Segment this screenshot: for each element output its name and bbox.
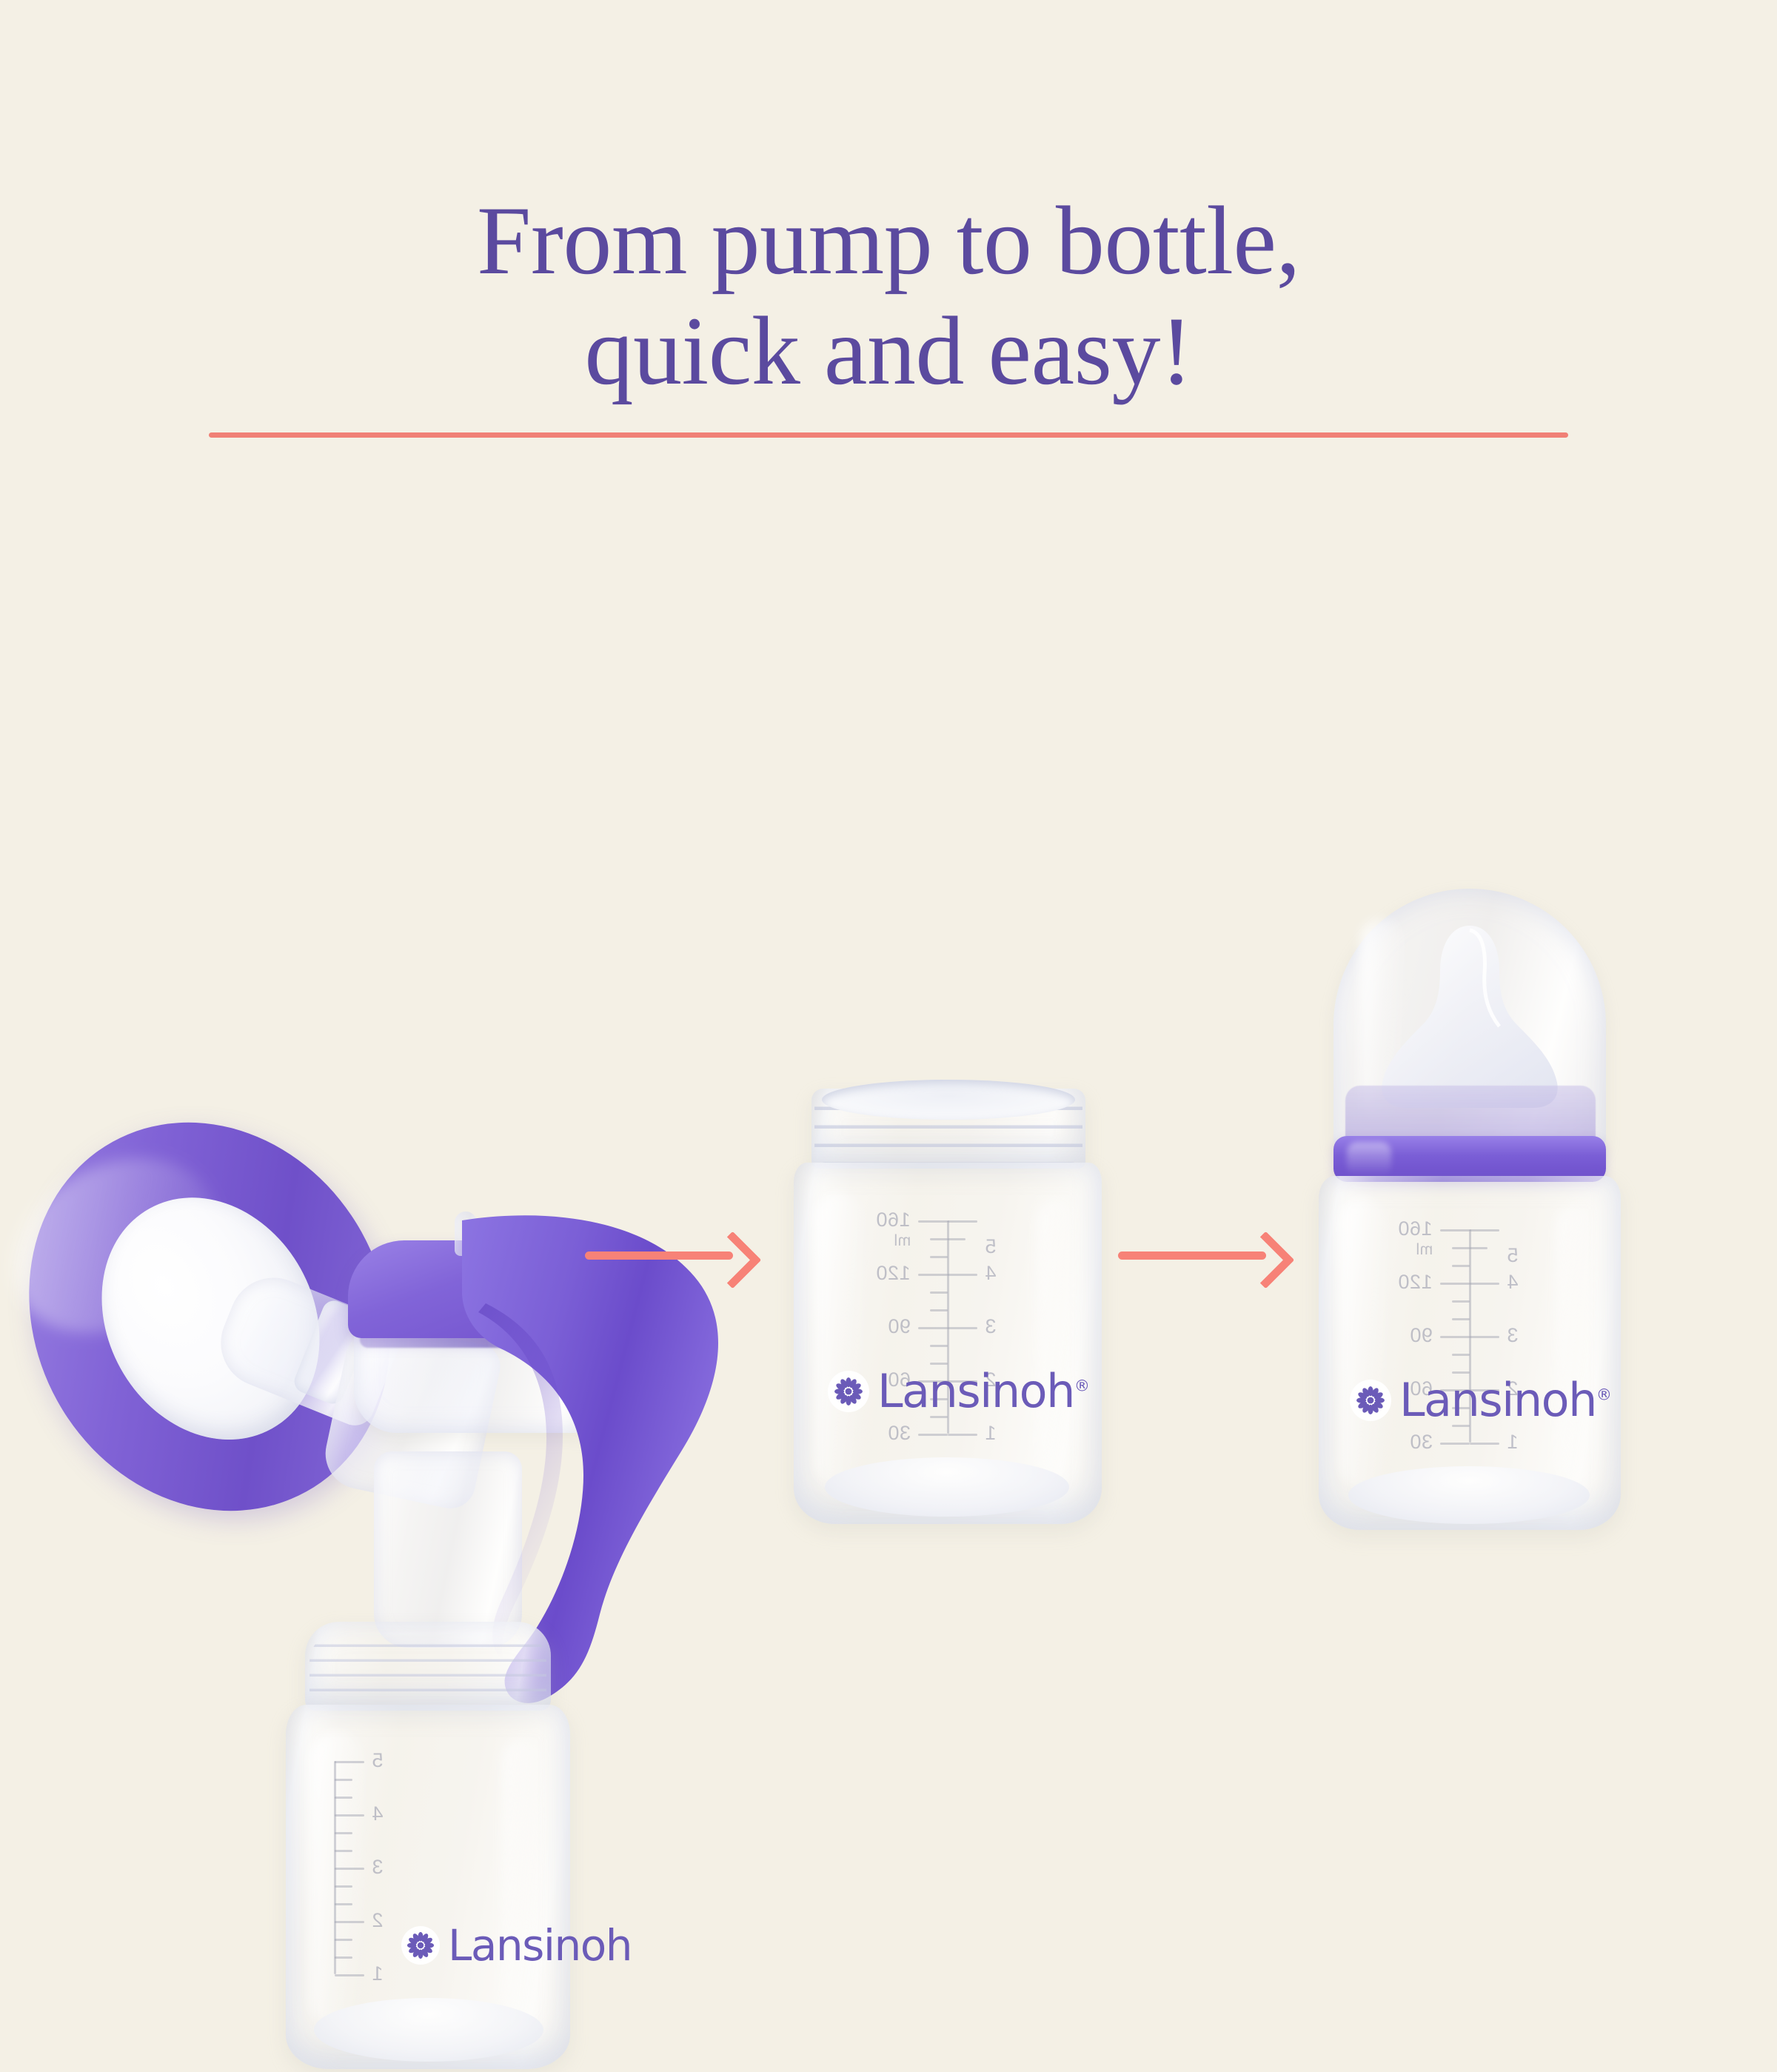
scale-tick-major bbox=[918, 1434, 948, 1436]
scale-tick-minor bbox=[930, 1238, 948, 1240]
scale-tick-minor bbox=[930, 1309, 948, 1311]
bottle-base bbox=[314, 1998, 543, 2062]
brand-logo: Lansinoh® bbox=[828, 1368, 1090, 1414]
scale-tick-minor bbox=[1470, 1247, 1487, 1249]
scale-label-ml: 160 bbox=[1398, 1217, 1433, 1240]
scale-label-oz: 1 bbox=[985, 1422, 997, 1445]
scale-tick-major bbox=[1470, 1443, 1499, 1445]
scale-tick-minor bbox=[335, 1903, 352, 1905]
scale-tick-major bbox=[918, 1220, 948, 1223]
product-manual-breast-pump: 5 4 3 2 1 bbox=[0, 548, 652, 1533]
brand-wordmark: Lansinoh bbox=[448, 1924, 632, 1967]
lansinoh-daisy-icon bbox=[1350, 1380, 1391, 1421]
scale-label-ml: 160 bbox=[876, 1209, 911, 1231]
arrow-head-icon bbox=[704, 1231, 762, 1289]
scale-tick-major bbox=[335, 1761, 364, 1763]
collar-ring-highlight bbox=[1347, 1142, 1391, 1176]
scale-label-oz: 4 bbox=[985, 1262, 997, 1285]
scale-label-oz: 4 bbox=[372, 1802, 384, 1825]
measurement-scale: 5 4 3 2 1 bbox=[333, 1761, 336, 1974]
scale-tick-minor bbox=[930, 1291, 948, 1294]
daisy-flower-icon bbox=[833, 1376, 864, 1407]
scale-label-oz: 3 bbox=[1507, 1324, 1519, 1347]
product-feeding-bottle: 160 ml 120 90 60 30 5 4 3 2 1 bbox=[1314, 889, 1625, 1533]
scale-tick-minor bbox=[930, 1256, 948, 1258]
brand-name-text: Lansinoh bbox=[877, 1364, 1074, 1418]
brand-wordmark: Lansinoh® bbox=[1399, 1377, 1612, 1423]
page-title: From pump to bottle, quick and easy! bbox=[0, 185, 1777, 406]
arrow-head-icon bbox=[1237, 1231, 1295, 1289]
scale-tick-major bbox=[335, 1921, 364, 1923]
scale-tick-major bbox=[335, 1814, 364, 1817]
scale-tick-major bbox=[1470, 1229, 1499, 1231]
scale-label-oz: 2 bbox=[372, 1909, 384, 1932]
brand-wordmark: Lansinoh® bbox=[877, 1368, 1090, 1414]
scale-label-oz: 5 bbox=[985, 1235, 997, 1258]
scale-tick-major bbox=[918, 1274, 948, 1276]
scale-tick-minor bbox=[1452, 1300, 1470, 1303]
scale-label-oz: 3 bbox=[372, 1856, 384, 1879]
scale-tick-major bbox=[1440, 1336, 1470, 1338]
scale-tick-major bbox=[335, 1868, 364, 1870]
scale-tick-minor bbox=[948, 1238, 966, 1240]
arrow-pump-to-container bbox=[585, 1222, 755, 1289]
scale-label-oz: 5 bbox=[372, 1749, 384, 1772]
brand-logo: Lansinoh bbox=[401, 1924, 632, 1967]
scale-tick-minor bbox=[335, 1956, 352, 1959]
scale-tick-major bbox=[1440, 1283, 1470, 1285]
bottle-base bbox=[1348, 1466, 1590, 1524]
scale-tick-major bbox=[335, 1974, 364, 1976]
container-base bbox=[825, 1457, 1069, 1517]
scale-tick-major bbox=[1440, 1443, 1470, 1445]
product-storage-container: 160 ml 120 90 60 30 5 4 3 2 1 bbox=[792, 1089, 1103, 1533]
scale-tick-minor bbox=[1452, 1318, 1470, 1320]
scale-label-oz: 5 bbox=[1507, 1244, 1519, 1267]
arrow-container-to-bottle bbox=[1118, 1222, 1288, 1289]
lansinoh-daisy-icon bbox=[401, 1926, 440, 1965]
lansinoh-daisy-icon bbox=[828, 1371, 869, 1412]
scale-tick-minor bbox=[335, 1797, 352, 1799]
scale-tick-minor bbox=[335, 1850, 352, 1852]
scale-tick-minor bbox=[1452, 1247, 1470, 1249]
scale-label-ml: 120 bbox=[876, 1262, 911, 1285]
brand-logo: Lansinoh® bbox=[1350, 1377, 1612, 1423]
scale-tick-minor bbox=[335, 1885, 352, 1888]
scale-tick-minor bbox=[930, 1345, 948, 1347]
scale-label-ml: 30 bbox=[888, 1422, 911, 1445]
registered-trademark-symbol: ® bbox=[1596, 1385, 1612, 1403]
infographic-canvas: From pump to bottle, quick and easy! bbox=[0, 0, 1777, 1777]
bottle-thread-lines bbox=[309, 1632, 546, 1703]
scale-tick-major bbox=[948, 1327, 977, 1329]
scale-tick-major bbox=[948, 1220, 977, 1223]
scale-label-ml-unit: ml bbox=[1416, 1241, 1433, 1259]
daisy-flower-icon bbox=[1355, 1385, 1386, 1416]
scale-label-ml: 120 bbox=[1398, 1271, 1433, 1294]
scale-label-ml: 90 bbox=[1410, 1324, 1433, 1347]
scale-label-oz: 1 bbox=[1507, 1431, 1519, 1454]
scale-tick-minor bbox=[1452, 1354, 1470, 1356]
scale-tick-minor bbox=[335, 1939, 352, 1941]
scale-label-oz: 1 bbox=[372, 1962, 384, 1985]
scale-tick-minor bbox=[1452, 1265, 1470, 1267]
brand-name-text: Lansinoh bbox=[1399, 1373, 1596, 1427]
title-divider-rule bbox=[209, 432, 1568, 438]
registered-trademark-symbol: ® bbox=[1074, 1376, 1090, 1394]
scale-label-ml: 90 bbox=[888, 1315, 911, 1338]
scale-tick-major bbox=[918, 1327, 948, 1329]
scale-tick-minor bbox=[335, 1832, 352, 1834]
daisy-flower-icon bbox=[406, 1931, 435, 1960]
scale-label-oz: 3 bbox=[985, 1315, 997, 1338]
scale-tick-major bbox=[948, 1274, 977, 1276]
scale-tick-major bbox=[1470, 1336, 1499, 1338]
scale-tick-minor bbox=[335, 1779, 352, 1781]
bottle-collar-frosted bbox=[1345, 1086, 1596, 1142]
scale-tick-major bbox=[1440, 1229, 1470, 1231]
scale-tick-major bbox=[948, 1434, 977, 1436]
container-opening bbox=[822, 1080, 1075, 1120]
scale-label-ml-unit: ml bbox=[894, 1232, 911, 1250]
scale-label-oz: 4 bbox=[1507, 1271, 1519, 1294]
pump-collection-bottle: 5 4 3 2 1 bbox=[280, 1628, 576, 2072]
scale-tick-major bbox=[1470, 1283, 1499, 1285]
scale-label-ml: 30 bbox=[1410, 1431, 1433, 1454]
